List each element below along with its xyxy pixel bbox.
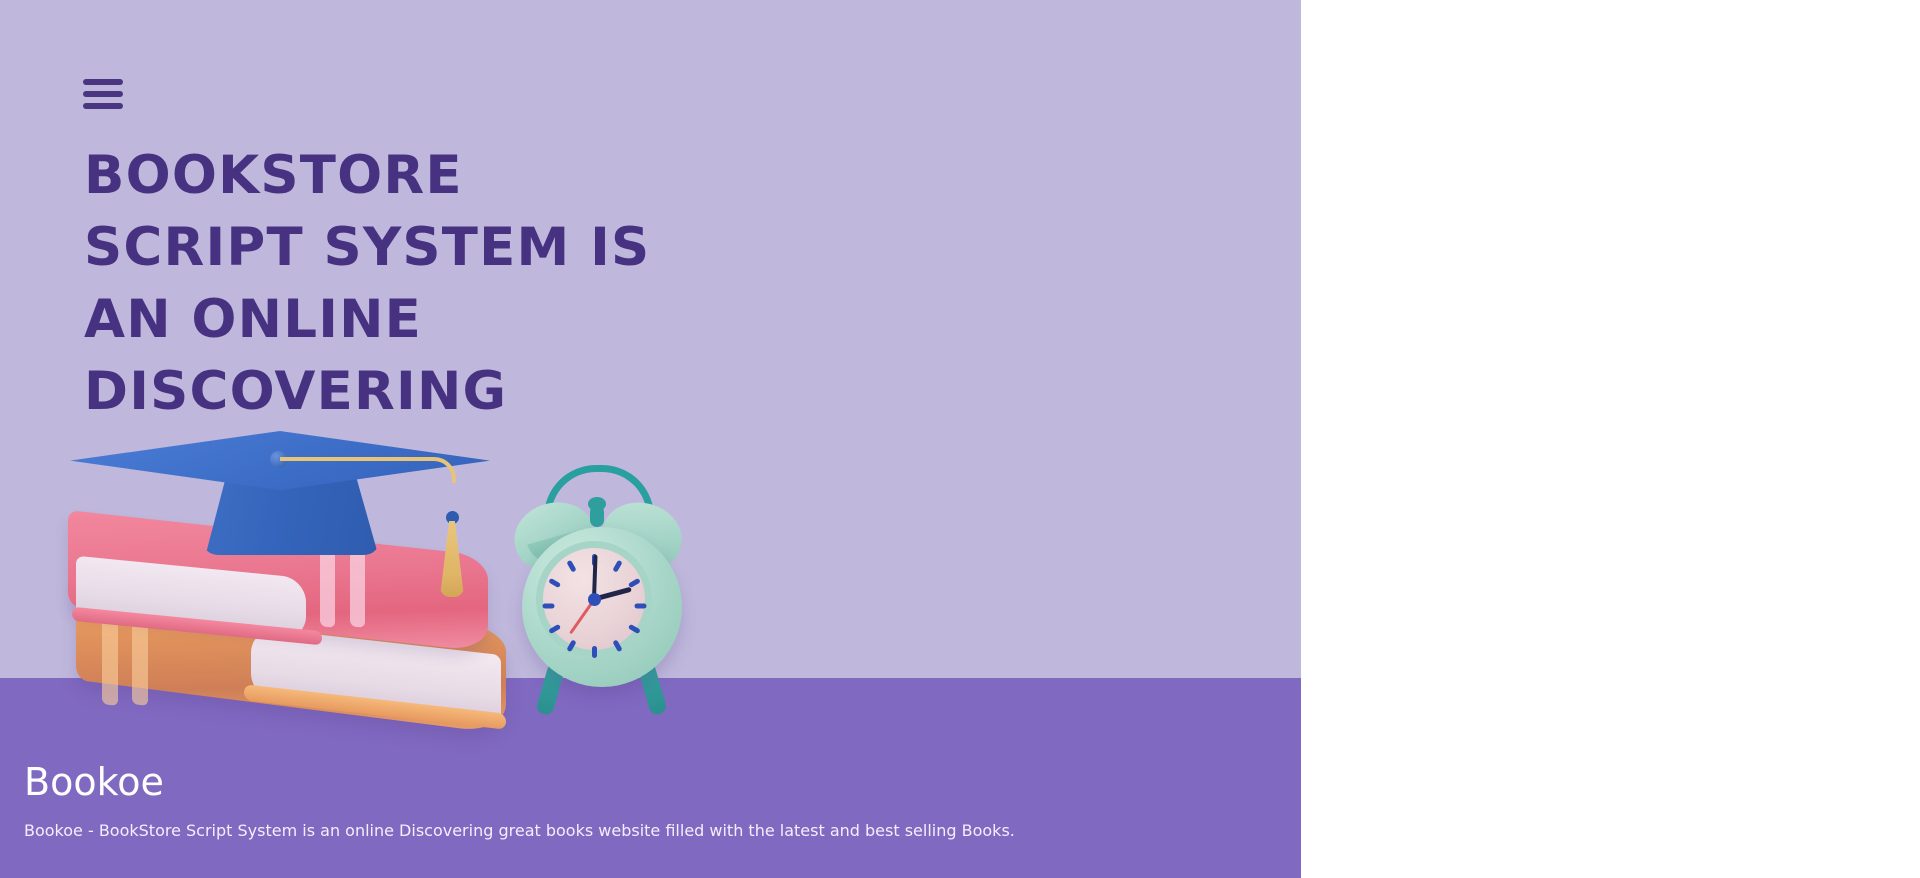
graduation-cap-icon [70,425,490,565]
cap-tassel [440,521,464,597]
hamburger-bar [83,79,123,85]
hamburger-menu-icon[interactable] [83,79,123,109]
alarm-clock-icon [512,465,712,730]
clock-body [522,527,682,687]
hero-illustration [60,425,760,755]
clock-tick [548,578,561,588]
clock-tick [634,604,646,609]
clock-tick [566,639,576,652]
signup-form-panel: BOOKOE BOOK STORE SYSTEM USER NAME E-MAI… [1301,0,1920,878]
hero-footer-text: Bookoe - BookStore Script System is an o… [24,820,1015,842]
clock-tick [566,560,576,573]
clock-tick [612,639,622,652]
hero-headline: BOOKSTORE SCRIPT SYSTEM IS AN ONLINE DIS… [84,140,784,428]
clock-face [536,541,652,657]
hamburger-bar [83,103,123,109]
clock-center-pin [588,593,601,606]
clock-tick [548,624,561,634]
hamburger-bar [83,91,123,97]
clock-tick [612,560,622,573]
clock-tick [592,646,597,658]
clock-top-nub [590,505,604,527]
clock-tick [627,624,640,634]
cap-tassel-cord [280,457,456,483]
clock-tick [542,604,554,609]
hero-footer-title: Bookoe [24,760,164,804]
hero-panel: BOOKSTORE SCRIPT SYSTEM IS AN ONLINE DIS… [0,0,1301,878]
signup-page: BOOKSTORE SCRIPT SYSTEM IS AN ONLINE DIS… [0,0,1920,878]
